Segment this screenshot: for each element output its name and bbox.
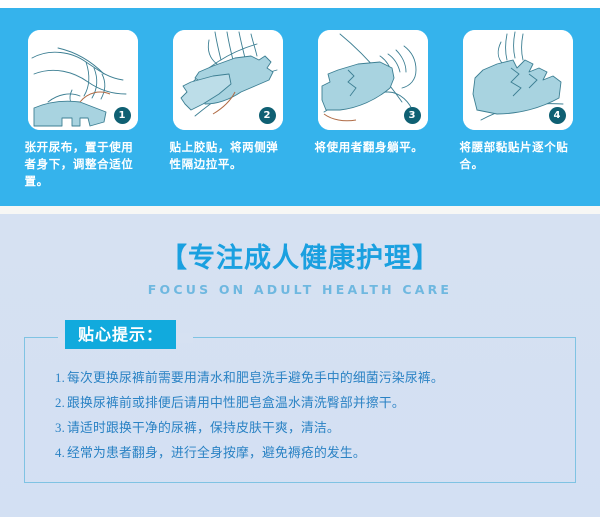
step-number-badge-3: 3 — [404, 107, 421, 124]
page-subtitle: FOCUS ON ADULT HEALTH CARE — [0, 282, 600, 297]
list-item-text: 每次更换尿裤前需要用清水和肥皂洗手避免手中的细菌污染尿裤。 — [67, 371, 444, 386]
health-care-section: 【专注成人健康护理】 FOCUS ON ADULT HEALTH CARE 贴心… — [0, 214, 600, 517]
list-item-number: 1. — [55, 371, 67, 385]
step-card-3: 3 — [318, 30, 428, 130]
step-caption-3: 将使用者翻身躺平。 — [315, 139, 431, 156]
step-item-4: 4 将腰部黏贴片逐个贴合。 — [445, 8, 590, 206]
page-title: 【专注成人健康护理】 — [0, 242, 600, 276]
section-divider — [0, 206, 600, 214]
step-caption-1: 张开尿布，置于使用者身下，调整合适位置。 — [25, 139, 141, 190]
list-item-number: 2. — [55, 396, 67, 410]
step-item-2: 2 贴上胶贴，将两侧弹性隔边拉平。 — [155, 8, 300, 206]
list-item-text: 经常为患者翻身，进行全身按摩，避免褥疮的发生。 — [67, 446, 366, 461]
list-item: 2.跟换尿裤前或排便后请用中性肥皂盒温水清洗臀部并擦干。 — [55, 391, 575, 416]
tips-list: 1.每次更换尿裤前需要用清水和肥皂洗手避免手中的细菌污染尿裤。 2.跟换尿裤前或… — [25, 338, 575, 466]
step-number-badge-2: 2 — [259, 107, 276, 124]
headline-block: 【专注成人健康护理】 FOCUS ON ADULT HEALTH CARE — [0, 214, 600, 297]
step-caption-4: 将腰部黏贴片逐个贴合。 — [460, 139, 576, 173]
step-number-badge-4: 4 — [549, 107, 566, 124]
step-item-1: 1 张开尿布，置于使用者身下，调整合适位置。 — [10, 8, 155, 206]
list-item-text: 请适时跟换干净的尿裤，保持皮肤干爽，清洁。 — [67, 421, 340, 436]
step-number-badge-1: 1 — [114, 107, 131, 124]
instruction-steps-banner: 1 张开尿布，置于使用者身下，调整合适位置。 — [0, 8, 600, 206]
step-card-2: 2 — [173, 30, 283, 130]
step-card-4: 4 — [463, 30, 573, 130]
list-item-number: 4. — [55, 446, 67, 460]
list-item: 1.每次更换尿裤前需要用清水和肥皂洗手避免手中的细菌污染尿裤。 — [55, 366, 575, 391]
list-item: 3.请适时跟换干净的尿裤，保持皮肤干爽，清洁。 — [55, 416, 575, 441]
step-item-3: 3 将使用者翻身躺平。 — [300, 8, 445, 206]
step-card-1: 1 — [28, 30, 138, 130]
tips-box: 贴心提示： 1.每次更换尿裤前需要用清水和肥皂洗手避免手中的细菌污染尿裤。 2.… — [24, 337, 576, 483]
list-item-text: 跟换尿裤前或排便后请用中性肥皂盒温水清洗臀部并擦干。 — [67, 396, 405, 411]
list-item: 4.经常为患者翻身，进行全身按摩，避免褥疮的发生。 — [55, 441, 575, 466]
step-caption-2: 贴上胶贴，将两侧弹性隔边拉平。 — [170, 139, 286, 173]
steps-row: 1 张开尿布，置于使用者身下，调整合适位置。 — [0, 8, 600, 206]
top-white-strip — [0, 0, 600, 8]
tips-heading: 贴心提示： — [65, 320, 176, 349]
list-item-number: 3. — [55, 421, 67, 435]
